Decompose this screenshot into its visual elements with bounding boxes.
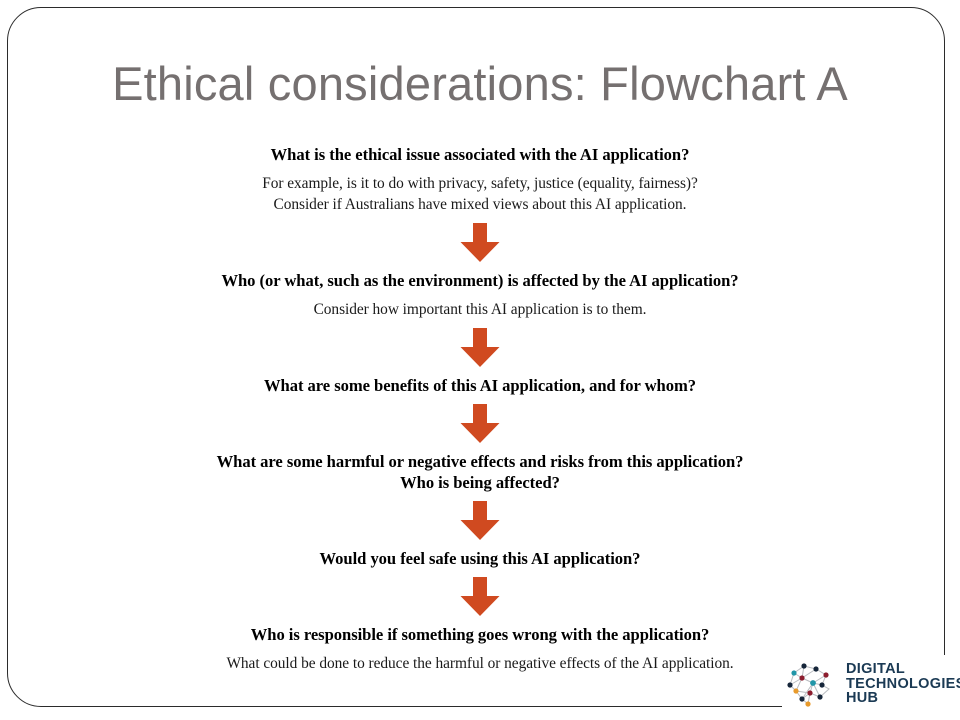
down-arrow-icon [458,501,502,541]
slide-canvas: Ethical considerations: Flowchart A What… [0,0,960,720]
down-arrow-icon [458,223,502,263]
spacer [0,215,960,223]
flow-connector-4 [0,501,960,541]
spacer [0,569,960,577]
flow-step-4: What are some harmful or negative effect… [0,451,960,493]
flow-step-6-heading: Who is responsible if something goes wro… [0,624,960,645]
down-arrow-icon [458,577,502,617]
flow-step-2-heading: Who (or what, such as the environment) i… [0,270,960,291]
logo-line-2: Technologies [846,677,960,692]
flow-step-1-sub-2: Consider if Australians have mixed views… [0,194,960,215]
flow-step-1-heading: What is the ethical issue associated wit… [0,144,960,165]
logo-line-1: Digital [846,662,960,677]
down-arrow-icon [458,328,502,368]
flow-step-4-heading-line2: Who is being affected? [0,472,960,493]
digital-technologies-hub-logo: Digital Technologies Hub [782,655,954,713]
flow-step-2-sub-1: Consider how important this AI applicati… [0,299,960,320]
spacer [0,396,960,404]
spacer [0,320,960,328]
logo-wordmark: Digital Technologies Hub [846,662,960,706]
logo-line-3: Hub [846,691,960,706]
flow-step-5-heading: Would you feel safe using this AI applic… [0,548,960,569]
flow-connector-5 [0,577,960,617]
flow-connector-2 [0,328,960,368]
down-arrow-icon [458,404,502,444]
spacer [0,541,960,548]
spacer [0,368,960,375]
australia-network-nodes-icon [782,659,840,709]
spacer [0,617,960,624]
flow-step-1-sub-1: For example, is it to do with privacy, s… [0,173,960,194]
spacer [0,444,960,451]
flow-step-1: What is the ethical issue associated wit… [0,144,960,215]
flow-connector-3 [0,404,960,444]
flow-step-3: What are some benefits of this AI applic… [0,375,960,396]
flow-step-5: Would you feel safe using this AI applic… [0,548,960,569]
flow-step-2: Who (or what, such as the environment) i… [0,270,960,320]
flowchart-container: What is the ethical issue associated wit… [0,144,960,674]
flow-step-4-heading: What are some harmful or negative effect… [0,451,960,472]
spacer [0,263,960,270]
spacer [0,493,960,501]
flow-step-3-heading: What are some benefits of this AI applic… [0,375,960,396]
flow-connector-1 [0,223,960,263]
page-title: Ethical considerations: Flowchart A [0,58,960,110]
